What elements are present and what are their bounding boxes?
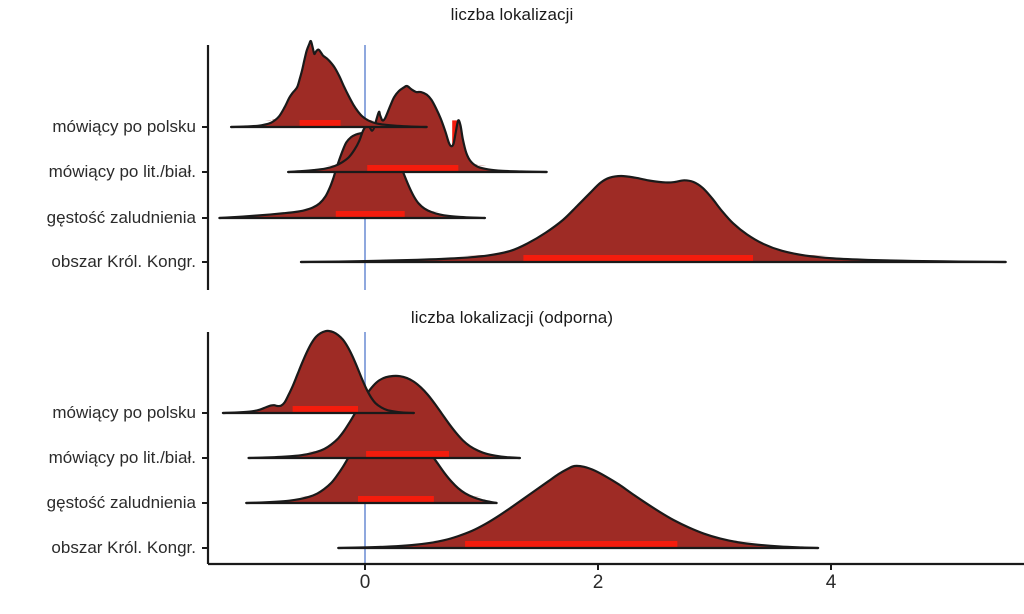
panel-liczba-lokalizacji: liczba lokalizacji mówiący po polskumówi… (0, 0, 1024, 300)
y-axis-label: gęstość zaludnienia (47, 208, 196, 228)
y-axis-label: mówiący po lit./biał. (49, 162, 196, 182)
y-axis-label: gęstość zaludnienia (47, 493, 196, 513)
y-axis-label: mówiący po lit./biał. (49, 448, 196, 468)
y-axis-label: obszar Król. Kongr. (51, 538, 196, 558)
y-axis-label: mówiący po polsku (52, 403, 196, 423)
y-axis-label: mówiący po polsku (52, 117, 196, 137)
x-tick-label-2: 2 (593, 572, 604, 594)
x-tick-label-4: 4 (826, 572, 837, 594)
ridgeline-figure: liczba lokalizacji mówiący po polskumówi… (0, 0, 1024, 614)
y-axis-label: obszar Król. Kongr. (51, 252, 196, 272)
panel-liczba-lokalizacji-odporna: liczba lokalizacji (odporna) mówiący po … (0, 300, 1024, 614)
density-ridge (249, 376, 520, 458)
x-tick-label-0: 0 (360, 572, 371, 594)
x-axis-tick-labels: 024 (0, 572, 1024, 602)
